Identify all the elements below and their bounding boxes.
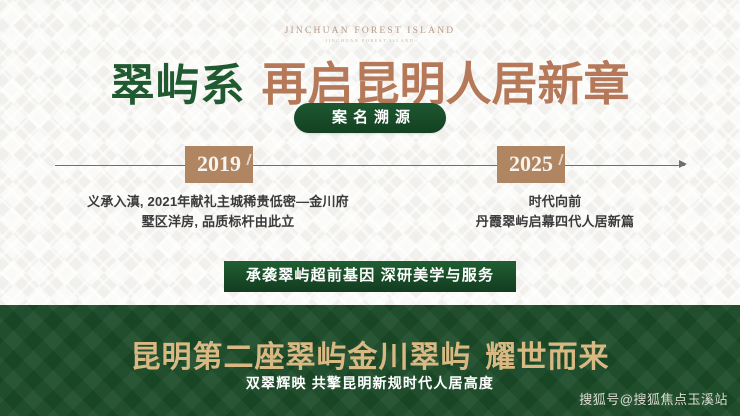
timeline-year-text: 2019: [197, 151, 241, 176]
strip-banner-wrap: 承袭翠屿超前基因 深研美学与服务: [0, 261, 740, 292]
brand-name: JINCHUAN FOREST ISLAND: [0, 26, 740, 36]
timeline-description-2025: 时代向前 丹霞翠屿启幕四代人居新篇: [420, 192, 690, 232]
timeline-year-label: 2019: [185, 146, 253, 183]
timeline-tick-icon: [558, 154, 564, 165]
brand-header: JINCHUAN FOREST ISLAND JINCHUAN FOREST I…: [0, 26, 740, 43]
timeline-arrow-icon: [679, 160, 687, 168]
footer-title-part1: 昆明第二座翠屿金川翠屿: [131, 341, 472, 374]
footer-title: 昆明第二座翠屿金川翠屿耀世而来: [0, 332, 740, 376]
watermark: 搜狐号@搜狐焦点玉溪站: [579, 389, 728, 408]
timeline-description-line: 墅区洋房, 品质标杆由此立: [48, 212, 388, 232]
timeline-description-2019: 义承入滇, 2021年献礼主城稀贵低密—金川府 墅区洋房, 品质标杆由此立: [48, 192, 388, 232]
timeline-description-line: 丹霞翠屿启幕四代人居新篇: [420, 212, 690, 232]
section-badge-wrap: 案名溯源: [0, 103, 740, 133]
timeline-node-2025: 2025: [497, 146, 565, 183]
brand-subtitle: JINCHUAN FOREST ISLAND: [0, 38, 740, 43]
timeline-description-line: 时代向前: [420, 192, 690, 212]
poster-root: JINCHUAN FOREST ISLAND JINCHUAN FOREST I…: [0, 0, 740, 416]
footer-title-part2: 耀世而来: [486, 341, 610, 374]
timeline-year-label: 2025: [497, 146, 565, 183]
timeline-axis: [55, 165, 685, 166]
timeline-year-text: 2025: [509, 151, 553, 176]
section-badge: 案名溯源: [294, 103, 446, 133]
timeline-node-2019: 2019: [185, 146, 253, 183]
timeline-tick-icon: [246, 154, 252, 165]
strip-banner: 承袭翠屿超前基因 深研美学与服务: [224, 261, 516, 292]
timeline-description-line: 义承入滇, 2021年献礼主城稀贵低密—金川府: [48, 192, 388, 212]
